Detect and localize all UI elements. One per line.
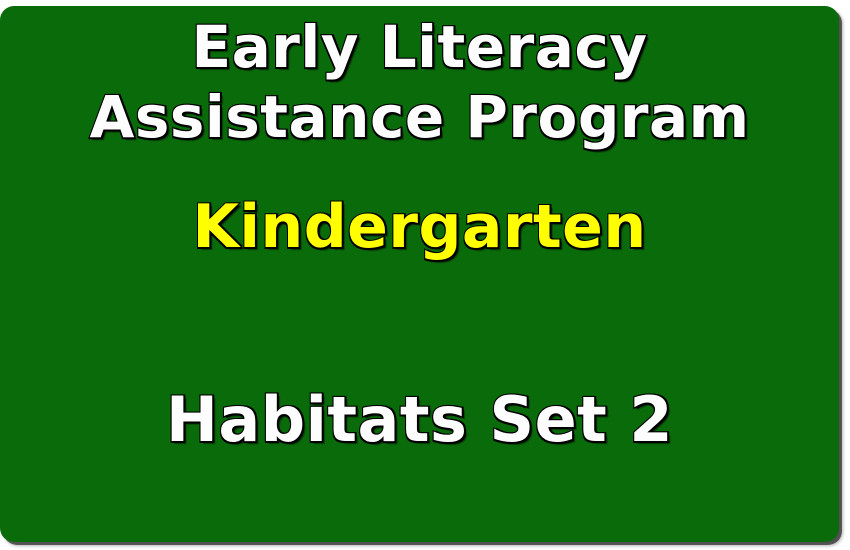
program-title-line-1: Early Literacy — [0, 14, 839, 80]
program-title-line-2: Assistance Program — [0, 84, 839, 150]
grade-level-label: Kindergarten — [0, 192, 839, 262]
green-title-card: Early Literacy Assistance Program Kinder… — [0, 6, 839, 542]
title-card-canvas: Early Literacy Assistance Program Kinder… — [0, 0, 850, 550]
title-text-stack: Early Literacy Assistance Program Kinder… — [0, 6, 839, 542]
unit-set-label: Habitats Set 2 — [0, 384, 839, 456]
